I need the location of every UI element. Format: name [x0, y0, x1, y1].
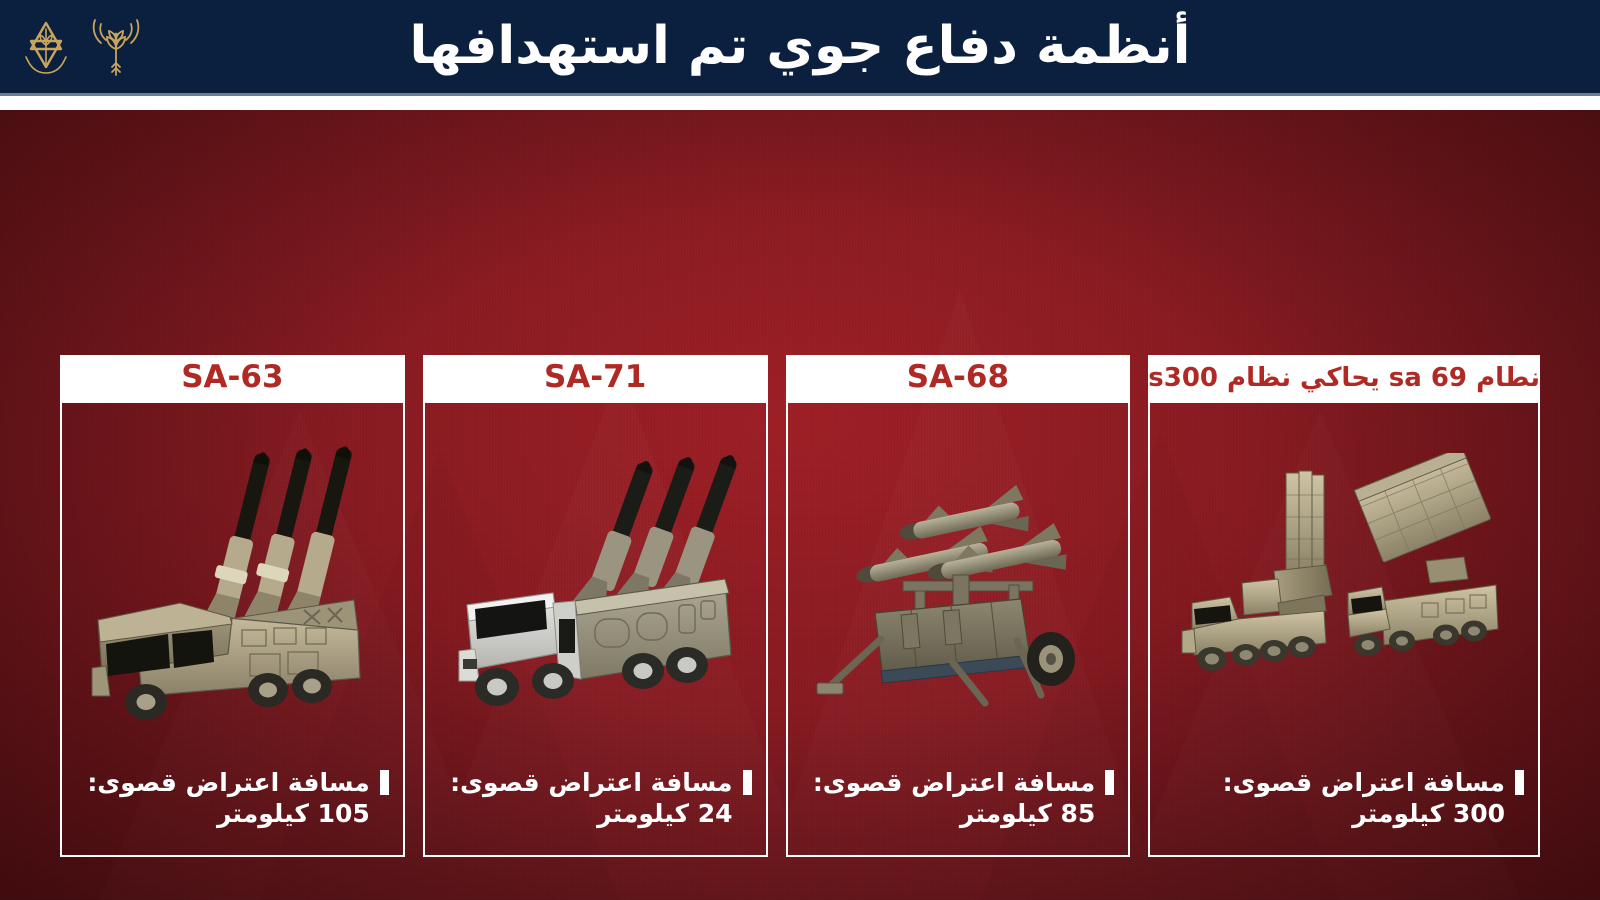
card-header: نطام sa 69 يحاكي نظام s300: [1148, 355, 1540, 403]
bullet-marker: [1105, 770, 1114, 795]
range-label: مسافة اعتراض قصوى:: [1223, 767, 1505, 798]
range-value: 85 كيلومتر: [802, 798, 1115, 829]
card-header: SA-68: [786, 355, 1131, 403]
card-title: SA-68: [907, 362, 1009, 396]
card-caption: مسافة اعتراض قصوى: 85 كيلومتر: [788, 767, 1129, 856]
card-body: مسافة اعتراض قصوى: 85 كيلومتر: [786, 403, 1131, 857]
system-card[interactable]: SA-68: [786, 355, 1131, 857]
range-value: 105 كيلومتر: [76, 798, 389, 829]
range-label: مسافة اعتراض قصوى:: [87, 767, 369, 798]
system-illustration-sa71: [425, 403, 766, 773]
systems-card-grid: نطام sa 69 يحاكي نظام s300: [60, 355, 1540, 857]
card-title: SA-63: [181, 362, 283, 396]
bullet-marker: [380, 770, 389, 795]
system-illustration-s300: [1150, 403, 1538, 773]
bullet-marker: [1515, 770, 1524, 795]
infographic-page: أنظمة دفاع جوي تم استهدافها نطام: [0, 0, 1600, 900]
card-body: مسافة اعتراض قصوى: 24 كيلومتر: [423, 403, 768, 857]
range-label: مسافة اعتراض قصوى:: [450, 767, 732, 798]
system-illustration-sa63: [62, 403, 403, 773]
card-caption: مسافة اعتراض قصوى: 105 كيلومتر: [62, 767, 403, 856]
system-card[interactable]: SA-63: [60, 355, 405, 857]
range-value: 24 كيلومتر: [439, 798, 752, 829]
card-title: SA-71: [544, 362, 646, 396]
content-background: نطام sa 69 يحاكي نظام s300: [0, 110, 1600, 900]
system-card[interactable]: نطام sa 69 يحاكي نظام s300: [1148, 355, 1540, 857]
page-title: أنظمة دفاع جوي تم استهدافها: [0, 20, 1600, 76]
card-body: مسافة اعتراض قصوى: 105 كيلومتر: [60, 403, 405, 857]
range-label: مسافة اعتراض قصوى:: [813, 767, 1095, 798]
range-value: 300 كيلومتر: [1164, 798, 1524, 829]
card-caption: مسافة اعتراض قصوى: 300 كيلومتر: [1150, 767, 1538, 856]
card-caption: مسافة اعتراض قصوى: 24 كيلومتر: [425, 767, 766, 856]
card-header: SA-63: [60, 355, 405, 403]
card-title: نطام sa 69 يحاكي نظام s300: [1148, 365, 1540, 394]
system-illustration-sa68: [788, 403, 1129, 773]
card-header: SA-71: [423, 355, 768, 403]
page-header: أنظمة دفاع جوي تم استهدافها: [0, 0, 1600, 95]
card-body: مسافة اعتراض قصوى: 300 كيلومتر: [1148, 403, 1540, 857]
system-card[interactable]: SA-71: [423, 355, 768, 857]
header-separator: [0, 96, 1600, 110]
bullet-marker: [743, 770, 752, 795]
